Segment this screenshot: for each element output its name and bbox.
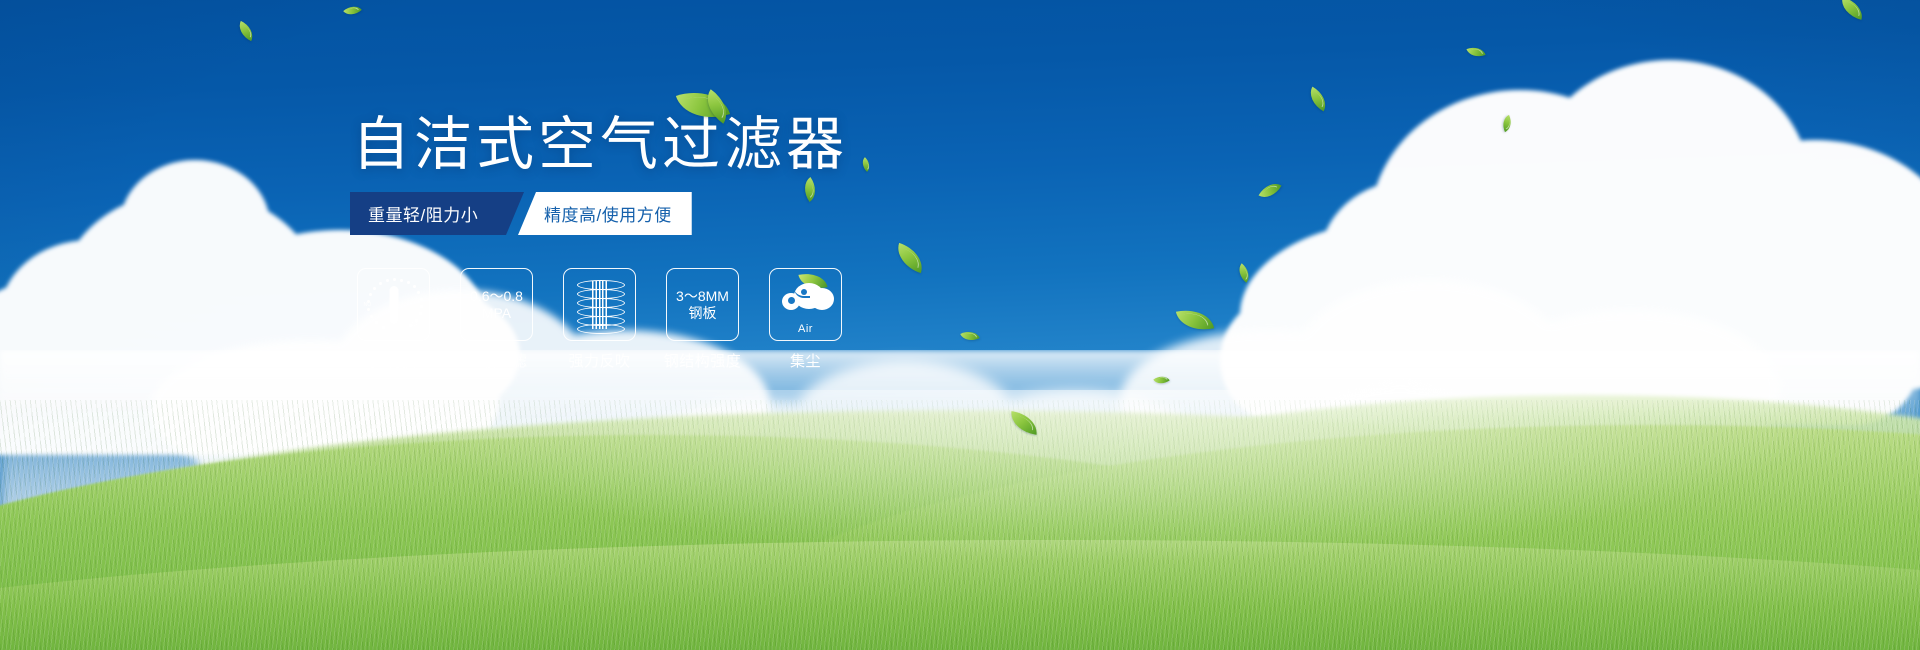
badge-precision[interactable]: 精度高/使用方便 bbox=[518, 192, 692, 235]
feature-label-pressure: 二级过滤 bbox=[465, 350, 527, 371]
feature-box-pressure: 0.6〜0.8 MPA bbox=[460, 268, 533, 341]
feature-item-backblow[interactable]: 强力反吹 bbox=[562, 268, 637, 371]
feature-label-control: 控制仪 bbox=[370, 350, 417, 371]
feature-box-steel: 3〜8MM 钢板 bbox=[666, 268, 739, 341]
filter-cartridge-icon bbox=[577, 279, 623, 331]
steel-value-line1: 3〜8MM bbox=[676, 288, 729, 305]
hero-banner: 自洁式空气过滤器 重量轻/阻力小 精度高/使用方便 NO OFF bbox=[0, 0, 1920, 650]
pressure-value-line1: 0.6〜0.8 bbox=[470, 288, 523, 305]
pressure-value-line2: MPA bbox=[482, 305, 511, 322]
banner-content: 自洁式空气过滤器 重量轻/阻力小 精度高/使用方便 NO OFF bbox=[0, 0, 1920, 650]
steel-value-line2: 钢板 bbox=[689, 305, 717, 322]
control-dial-icon: NO OFF bbox=[366, 277, 422, 333]
tagline-badges: 重量轻/阻力小 精度高/使用方便 bbox=[350, 192, 692, 235]
air-cloud-icon bbox=[776, 275, 836, 325]
feature-box-control: NO OFF bbox=[357, 268, 430, 341]
feature-label-backblow: 强力反吹 bbox=[568, 350, 630, 371]
feature-label-dust: 集尘 bbox=[790, 350, 821, 371]
dial-knob bbox=[389, 286, 398, 324]
feature-item-dust[interactable]: Air 集尘 bbox=[768, 268, 843, 371]
feature-label-steel: 钢结构强度 bbox=[664, 350, 742, 371]
feature-item-control[interactable]: NO OFF bbox=[356, 268, 431, 371]
feature-item-pressure[interactable]: 0.6〜0.8 MPA 二级过滤 bbox=[459, 268, 534, 371]
feature-icon-row: NO OFF bbox=[356, 268, 843, 371]
dial-off-label: OFF bbox=[412, 322, 423, 328]
feature-box-dust: Air bbox=[769, 268, 842, 341]
feature-box-backblow bbox=[563, 268, 636, 341]
badge-lightweight[interactable]: 重量轻/阻力小 bbox=[350, 192, 524, 235]
page-title: 自洁式空气过滤器 bbox=[352, 113, 848, 177]
feature-item-steel[interactable]: 3〜8MM 钢板 钢结构强度 bbox=[665, 268, 740, 371]
